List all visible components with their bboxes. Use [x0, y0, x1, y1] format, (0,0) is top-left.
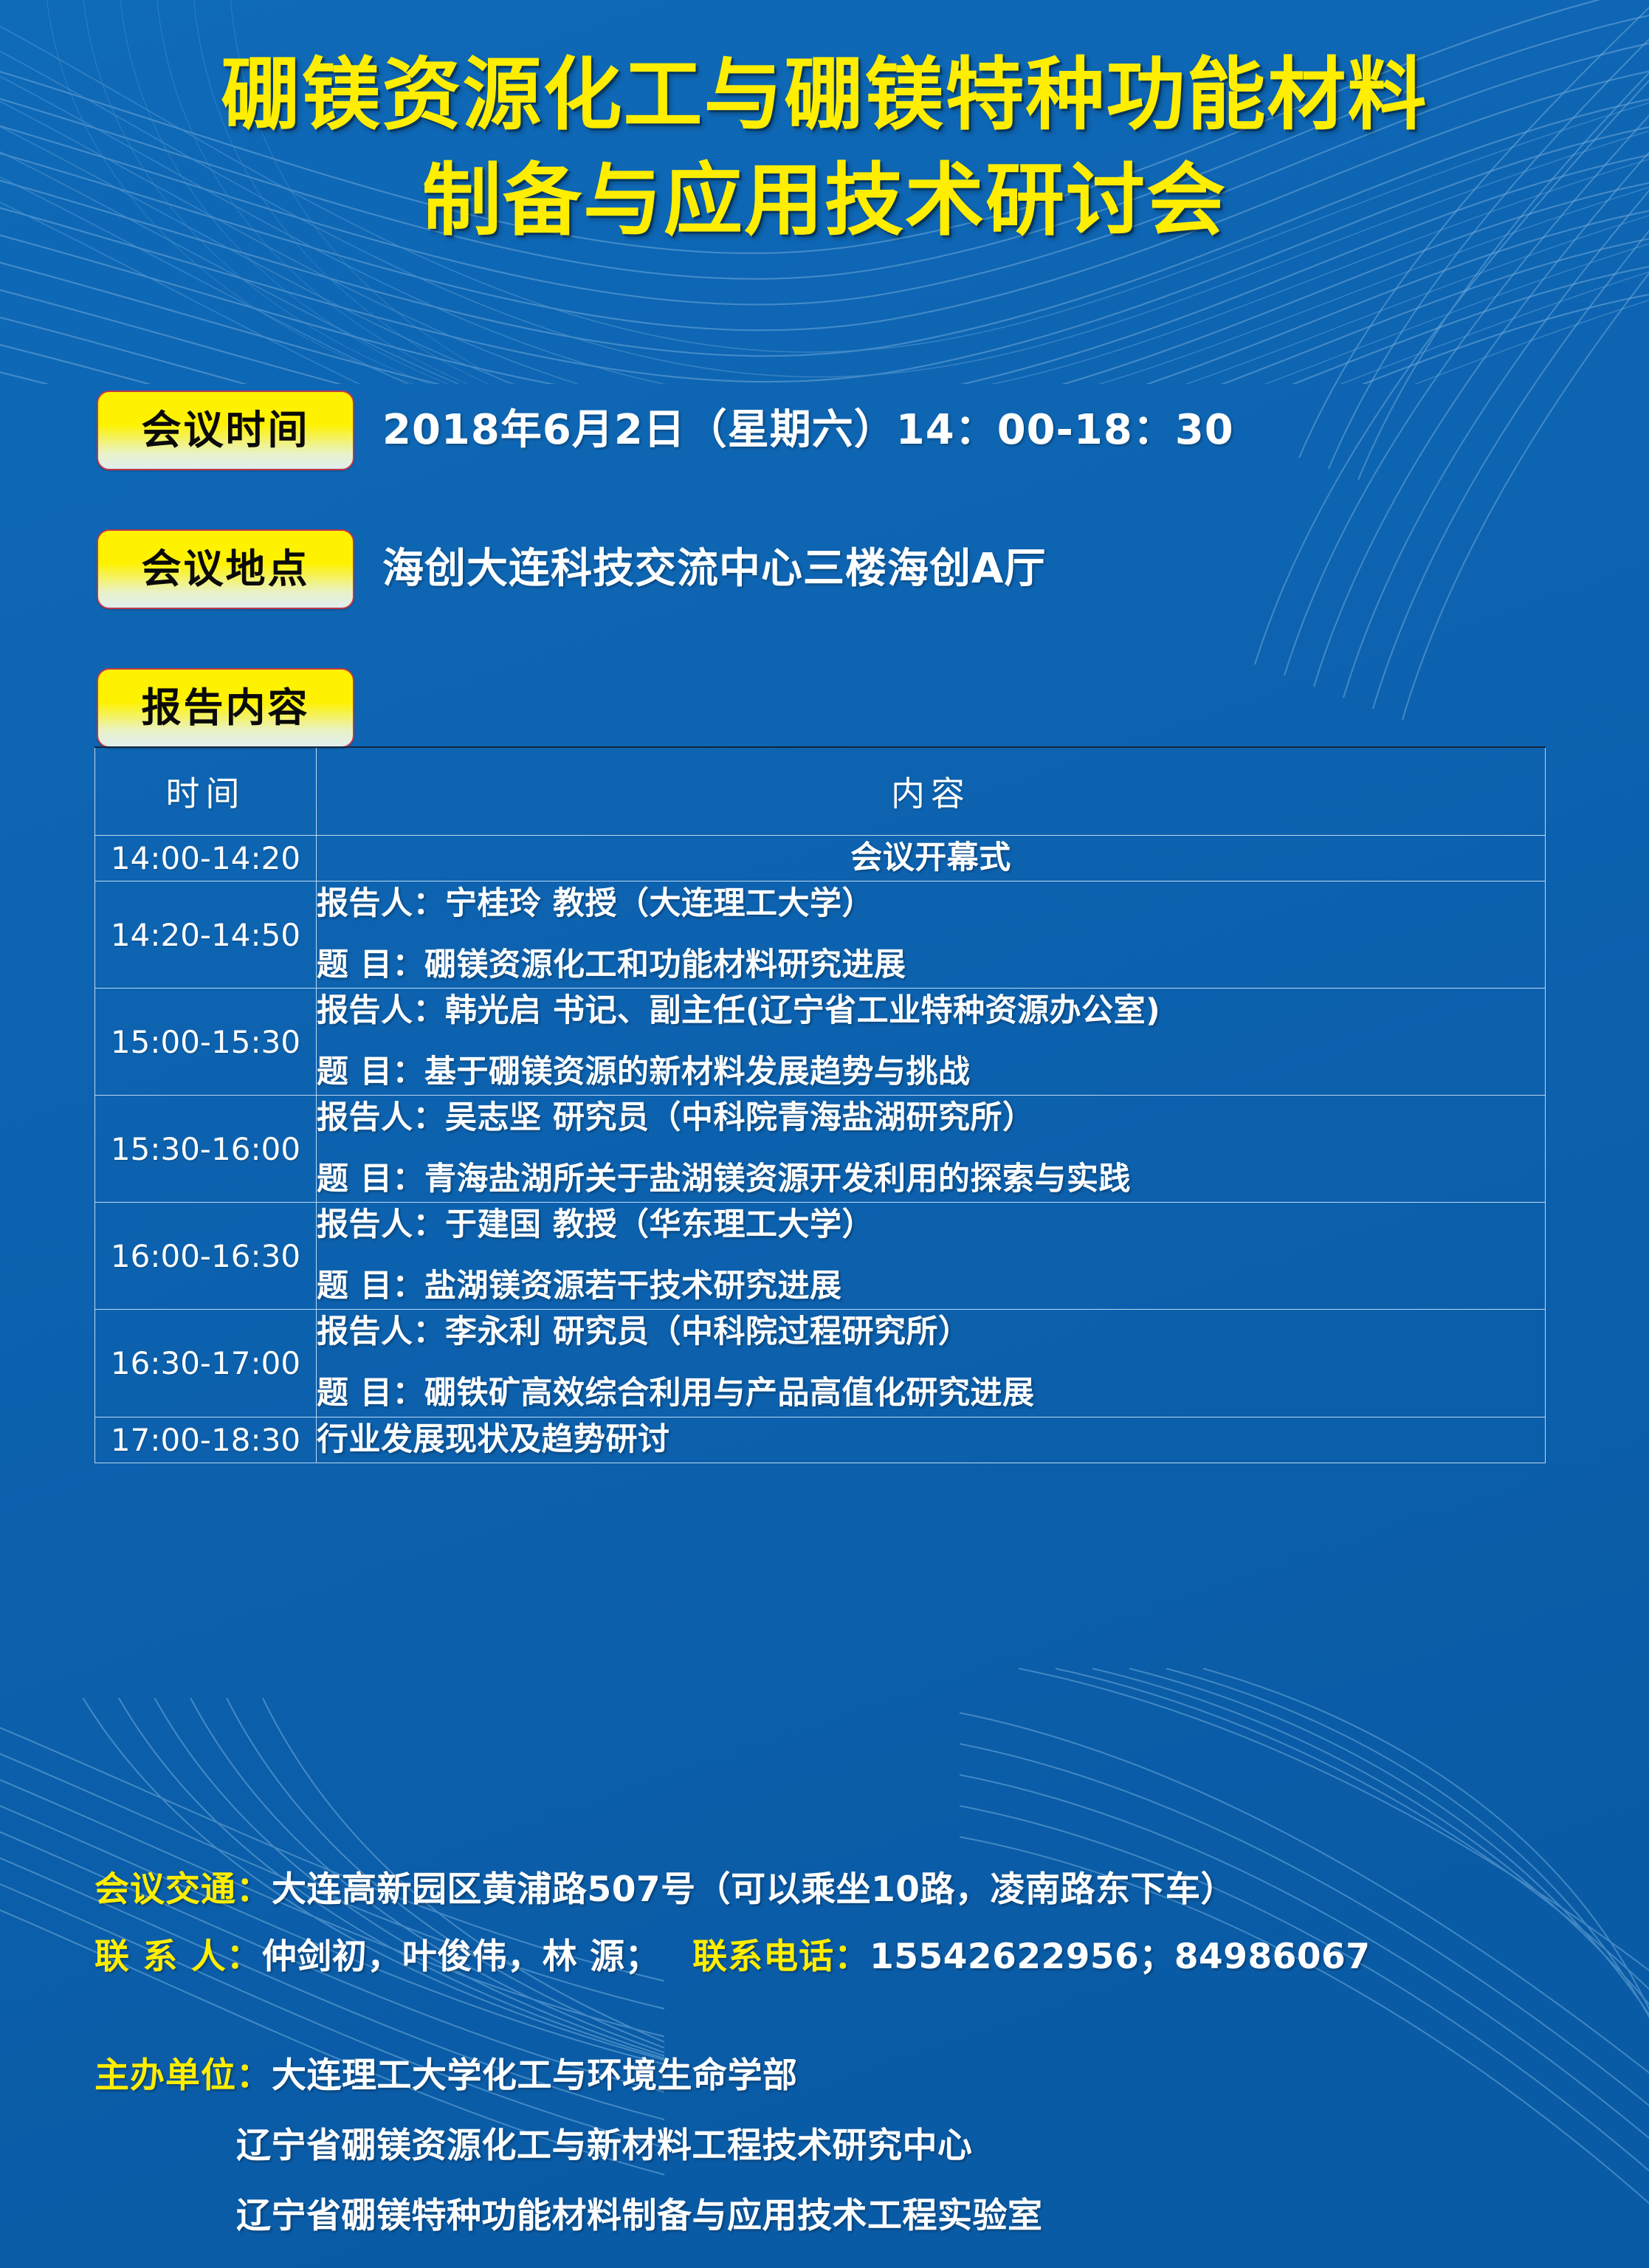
- meeting-info-block: 会议时间 2018年6月2日（星期六）14：00-18：30 会议地点 海创大连…: [0, 391, 1649, 807]
- meeting-place-value: 海创大连科技交流中心三楼海创A厅: [382, 529, 1046, 609]
- table-row: 15:00-15:30报告人：韩光启 书记、副主任(辽宁省工业特种资源办公室)题…: [95, 989, 1546, 1096]
- table-row: 14:00-14:20会议开幕式: [95, 836, 1546, 882]
- traffic-line: 会议交通：大连高新园区黄浦路507号（可以乘坐10路，凌南路东下车）: [94, 1869, 1571, 1910]
- meeting-time-row: 会议时间 2018年6月2日（星期六）14：00-18：30: [0, 391, 1649, 529]
- organizer-line-3: 辽宁省硼镁特种功能材料制备与应用技术工程实验室: [236, 2187, 1571, 2238]
- content-speaker-line: 报告人：吴志坚 研究员（中科院青海盐湖研究所）: [317, 1096, 1545, 1141]
- conference-poster: 硼镁资源化工与硼镁特种功能材料 制备与应用技术研讨会 会议时间 2018年6月2…: [0, 0, 1649, 2268]
- content-speaker-line: 报告人：韩光启 书记、副主任(辽宁省工业特种资源办公室): [317, 989, 1545, 1034]
- meeting-place-label-chip: 会议地点: [97, 529, 354, 609]
- content-speaker-line: 会议开幕式: [317, 836, 1545, 881]
- cell-time: 16:00-16:30: [95, 1203, 317, 1310]
- title-line-2: 制备与应用技术研讨会: [0, 148, 1649, 254]
- footer-contact-block: 会议交通：大连高新园区黄浦路507号（可以乘坐10路，凌南路东下车） 联 系 人…: [94, 1869, 1571, 2004]
- cell-content: 行业发展现状及趋势研讨: [317, 1417, 1546, 1463]
- column-header-time: 时间: [95, 747, 317, 836]
- cell-content: 报告人：宁桂玲 教授（大连理工大学）题 目：硼镁资源化工和功能材料研究进展: [317, 882, 1546, 989]
- table-row: 17:00-18:30行业发展现状及趋势研讨: [95, 1417, 1546, 1463]
- organizer-value-3: 辽宁省硼镁特种功能材料制备与应用技术工程实验室: [236, 2196, 1043, 2236]
- traffic-label: 会议交通：: [94, 1869, 272, 1910]
- content-speaker-line: 报告人：李永利 研究员（中科院过程研究所）: [317, 1310, 1545, 1355]
- cell-time: 17:00-18:30: [95, 1417, 317, 1463]
- table-row: 14:20-14:50报告人：宁桂玲 教授（大连理工大学）题 目：硼镁资源化工和…: [95, 882, 1546, 989]
- content-topic-line: 题 目：基于硼镁资源的新材料发展趋势与挑战: [317, 1050, 1545, 1095]
- meeting-place-row: 会议地点 海创大连科技交流中心三楼海创A厅: [0, 529, 1649, 668]
- cell-time: 15:30-16:00: [95, 1096, 317, 1203]
- schedule-table: 时间 内容 14:00-14:20会议开幕式14:20-14:50报告人：宁桂玲…: [94, 746, 1546, 1463]
- content-topic-line: 题 目：青海盐湖所关于盐湖镁资源开发利用的探索与实践: [317, 1157, 1545, 1202]
- cell-content: 报告人：吴志坚 研究员（中科院青海盐湖研究所）题 目：青海盐湖所关于盐湖镁资源开…: [317, 1096, 1546, 1203]
- table-header-row: 时间 内容: [95, 747, 1546, 836]
- cell-time: 16:30-17:00: [95, 1310, 317, 1417]
- cell-time: 14:00-14:20: [95, 836, 317, 882]
- cell-content: 报告人：于建国 教授（华东理工大学）题 目：盐湖镁资源若干技术研究进展: [317, 1203, 1546, 1310]
- column-header-content-label: 内容: [317, 748, 1545, 835]
- table-row: 16:00-16:30报告人：于建国 教授（华东理工大学）题 目：盐湖镁资源若干…: [95, 1203, 1546, 1310]
- agenda-label: 报告内容: [142, 688, 310, 728]
- table-row: 16:30-17:00报告人：李永利 研究员（中科院过程研究所）题 目：硼铁矿高…: [95, 1310, 1546, 1417]
- meeting-time-label: 会议时间: [142, 410, 310, 450]
- organizer-value-2: 辽宁省硼镁资源化工与新材料工程技术研究中心: [236, 2126, 973, 2166]
- cell-content: 会议开幕式: [317, 836, 1546, 882]
- organizer-value-1: 大连理工大学化工与环境生命学部: [272, 2055, 798, 2096]
- poster-title: 硼镁资源化工与硼镁特种功能材料 制备与应用技术研讨会: [0, 43, 1649, 255]
- schedule-table-wrapper: 时间 内容 14:00-14:20会议开幕式14:20-14:50报告人：宁桂玲…: [94, 746, 1546, 1463]
- agenda-label-chip: 报告内容: [97, 668, 354, 748]
- title-line-1: 硼镁资源化工与硼镁特种功能材料: [0, 43, 1649, 148]
- column-header-time-label: 时间: [95, 748, 316, 835]
- organizer-line-2: 辽宁省硼镁资源化工与新材料工程技术研究中心: [236, 2117, 1571, 2168]
- contact-label: 联 系 人：: [94, 1937, 262, 1977]
- table-row: 15:30-16:00报告人：吴志坚 研究员（中科院青海盐湖研究所）题 目：青海…: [95, 1096, 1546, 1203]
- phone-label: 联系电话：: [692, 1937, 870, 1977]
- organizer-label: 主办单位：: [94, 2055, 272, 2096]
- cell-time: 14:20-14:50: [95, 882, 317, 989]
- content-speaker-line: 报告人：宁桂玲 教授（大连理工大学）: [317, 882, 1545, 927]
- meeting-time-label-chip: 会议时间: [97, 391, 354, 470]
- cell-content: 报告人：韩光启 书记、副主任(辽宁省工业特种资源办公室)题 目：基于硼镁资源的新…: [317, 989, 1546, 1096]
- cell-time: 15:00-15:30: [95, 989, 317, 1096]
- content-topic-line: 题 目：硼铁矿高效综合利用与产品高值化研究进展: [317, 1371, 1545, 1416]
- organizer-block: 主办单位：大连理工大学化工与环境生命学部 辽宁省硼镁资源化工与新材料工程技术研究…: [94, 2047, 1571, 2238]
- content-topic-line: 题 目：硼镁资源化工和功能材料研究进展: [317, 943, 1545, 988]
- organizer-line-1: 主办单位：大连理工大学化工与环境生命学部: [94, 2047, 1571, 2097]
- contact-line: 联 系 人：仲剑初，叶俊伟，林 源；联系电话：15542622956；84986…: [94, 1937, 1571, 1977]
- cell-content: 报告人：李永利 研究员（中科院过程研究所）题 目：硼铁矿高效综合利用与产品高值化…: [317, 1310, 1546, 1417]
- meeting-time-value: 2018年6月2日（星期六）14：00-18：30: [382, 391, 1234, 470]
- content-topic-line: 题 目：盐湖镁资源若干技术研究进展: [317, 1264, 1545, 1309]
- meeting-place-label: 会议地点: [142, 549, 310, 589]
- content-speaker-line: 报告人：于建国 教授（华东理工大学）: [317, 1203, 1545, 1248]
- content-speaker-line: 行业发展现状及趋势研讨: [317, 1417, 1545, 1463]
- phone-value: 15542622956；84986067: [870, 1937, 1370, 1977]
- contact-value: 仲剑初，叶俊伟，林 源；: [262, 1937, 660, 1977]
- traffic-value: 大连高新园区黄浦路507号（可以乘坐10路，凌南路东下车）: [272, 1869, 1236, 1910]
- column-header-content: 内容: [317, 747, 1546, 836]
